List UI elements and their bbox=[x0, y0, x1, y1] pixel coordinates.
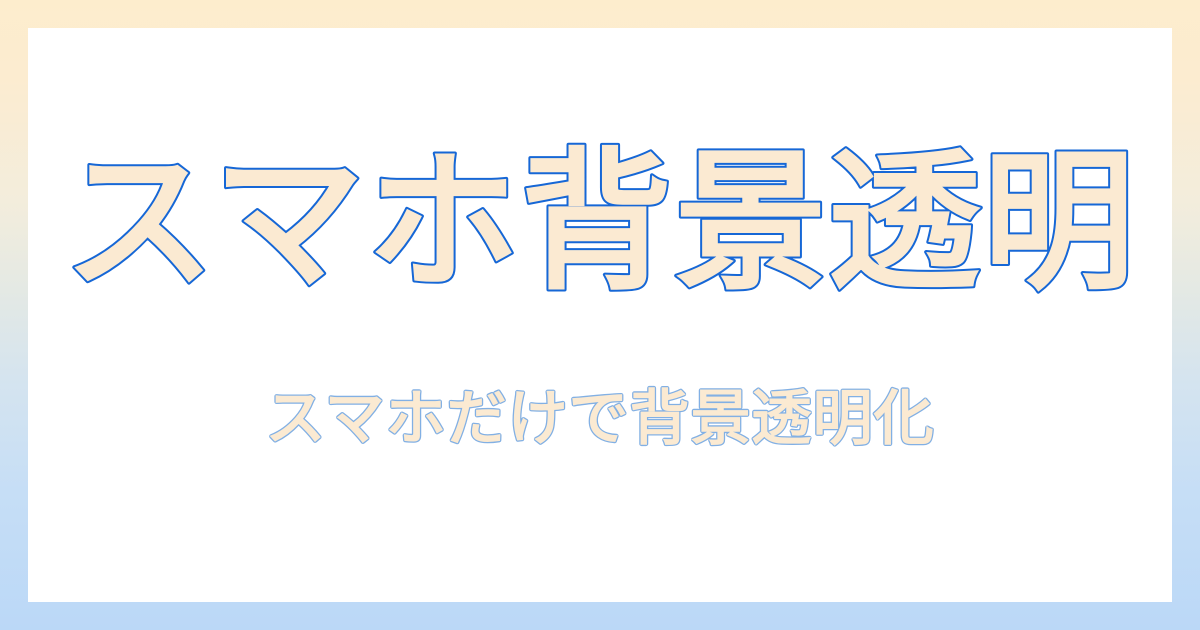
subtitle-graphic: スマホだけで背景透明化 bbox=[150, 369, 1050, 465]
page-title: スマホ背景透明 bbox=[64, 134, 1136, 311]
headline-container: スマホ背景透明 bbox=[28, 129, 1172, 329]
headline-graphic: スマホ背景透明 bbox=[64, 129, 1136, 329]
page-subtitle: スマホだけで背景透明化 bbox=[265, 384, 934, 454]
banner-content: スマホ背景透明 スマホだけで背景透明化 bbox=[28, 28, 1172, 602]
subtitle-container: スマホだけで背景透明化 bbox=[28, 369, 1172, 465]
banner-canvas: スマホ背景透明 スマホだけで背景透明化 bbox=[0, 0, 1200, 630]
white-card: スマホ背景透明 スマホだけで背景透明化 bbox=[28, 28, 1172, 602]
